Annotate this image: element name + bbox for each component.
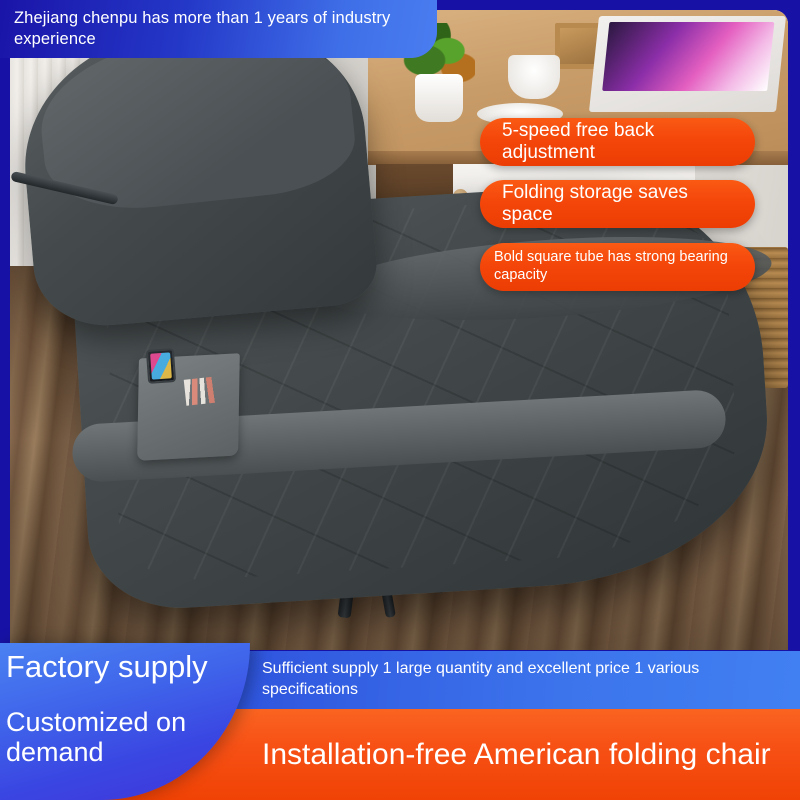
pens-in-pocket [184,376,221,405]
folding-recliner-chair [10,10,788,650]
factory-supply-label: Factory supply [6,651,250,684]
bottom-orange-bar-text: Installation-free American folding chair [262,737,787,773]
promo-image-stage: Zhejiang chenpu has more than 1 years of… [0,0,800,800]
feature-badge-1: 5-speed free back adjustment [480,118,755,166]
feature-badge-1-text: 5-speed free back adjustment [502,120,733,164]
top-banner-text: Zhejiang chenpu has more than 1 years of… [14,8,421,50]
feature-badge-3-text: Bold square tube has strong bearing capa… [494,249,741,284]
phone-in-pocket [146,348,176,384]
feature-badge-2: Folding storage saves space [480,180,755,228]
bottom-blue-bar-text: Sufficient supply 1 large quantity and e… [262,659,800,701]
room-scene [10,10,788,650]
customized-on-demand-label: Customized on demand [6,708,250,767]
top-banner: Zhejiang chenpu has more than 1 years of… [0,0,437,58]
product-photo [10,10,788,650]
feature-badge-2-text: Folding storage saves space [502,182,733,226]
feature-badge-3: Bold square tube has strong bearing capa… [480,243,755,291]
